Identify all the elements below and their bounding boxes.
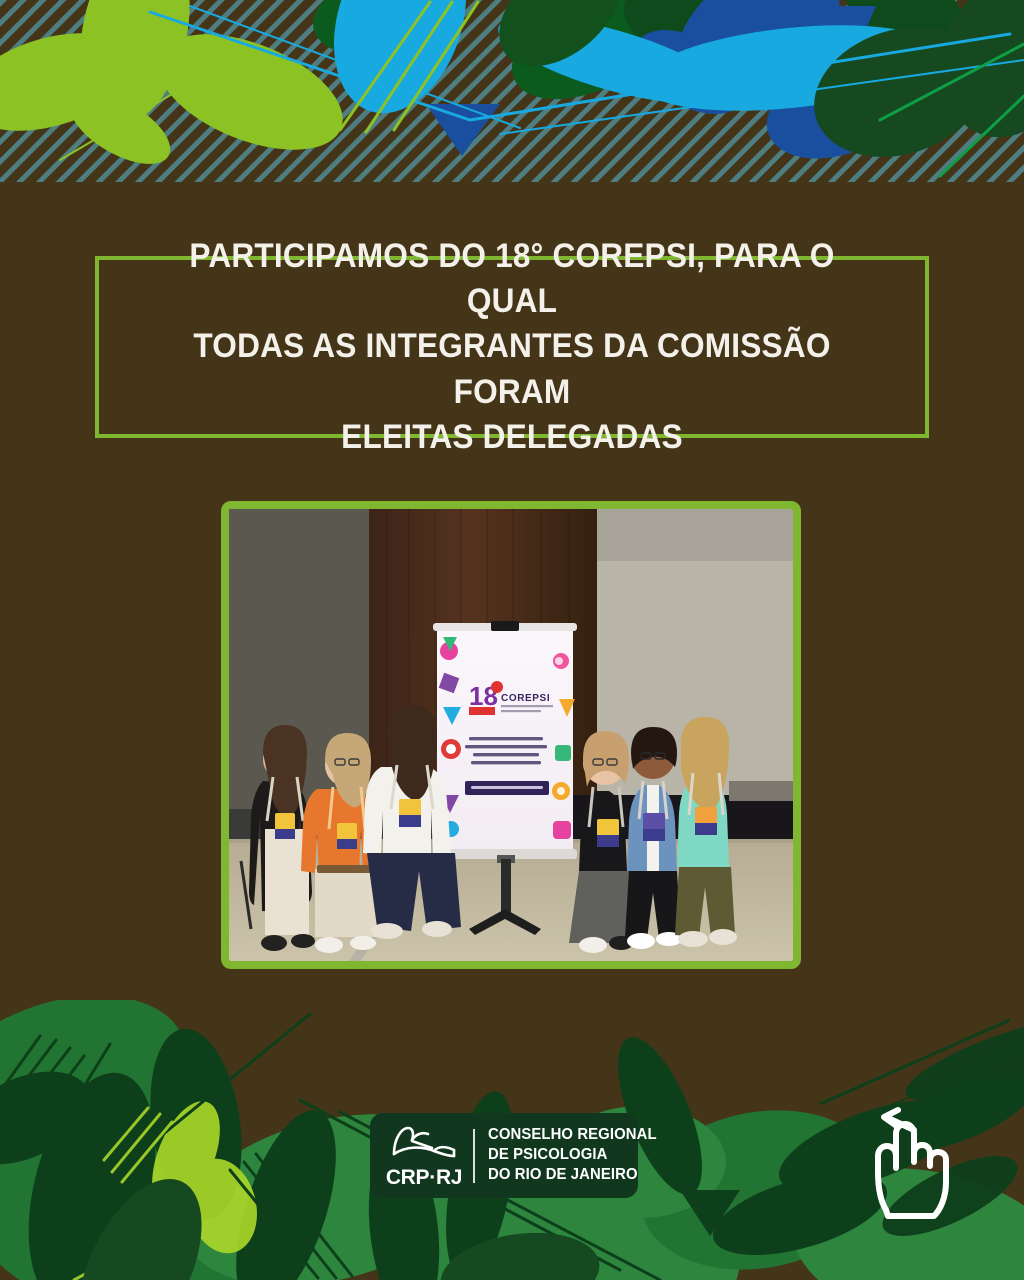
logo-line-3: DO RIO DE JANEIRO xyxy=(488,1167,657,1184)
swipe-left-hand-icon[interactable] xyxy=(858,1100,968,1220)
crp-rj-logo-badge: CRP·RJ CONSELHO REGIONAL DE PSICOLOGIA D… xyxy=(370,1113,638,1198)
headline-line-3: ELEITAS DELEGADAS xyxy=(152,415,872,460)
top-organic-pattern-band xyxy=(0,0,1024,182)
headline-box: PARTICIPAMOS DO 18° COREPSI, PARA O QUAL… xyxy=(95,256,929,438)
event-photo-frame: 18 COREPSI xyxy=(221,501,801,969)
svg-text:COREPSI: COREPSI xyxy=(501,693,550,704)
logo-line-2: DE PSICOLOGIA xyxy=(488,1147,657,1164)
page-title: PARTICIPAMOS DO 18° COREPSI, PARA O QUAL… xyxy=(152,234,872,460)
headline-line-2: TODAS AS INTEGRANTES DA COMISSÃO FORAM xyxy=(152,324,872,414)
headline-line-1: PARTICIPAMOS DO 18° COREPSI, PARA O QUAL xyxy=(152,234,872,324)
event-photo: 18 COREPSI xyxy=(229,509,793,961)
logo-acronym: CRP·RJ xyxy=(386,1167,462,1188)
logo-divider xyxy=(473,1129,475,1183)
logo-mark-group: CRP·RJ xyxy=(388,1124,460,1188)
logo-text-lines: CONSELHO REGIONAL DE PSICOLOGIA DO RIO D… xyxy=(488,1127,664,1183)
crp-bird-book-icon xyxy=(388,1124,460,1164)
logo-line-1: CONSELHO REGIONAL xyxy=(488,1127,657,1144)
poster-canvas: PARTICIPAMOS DO 18° COREPSI, PARA O QUAL… xyxy=(0,0,1024,1280)
